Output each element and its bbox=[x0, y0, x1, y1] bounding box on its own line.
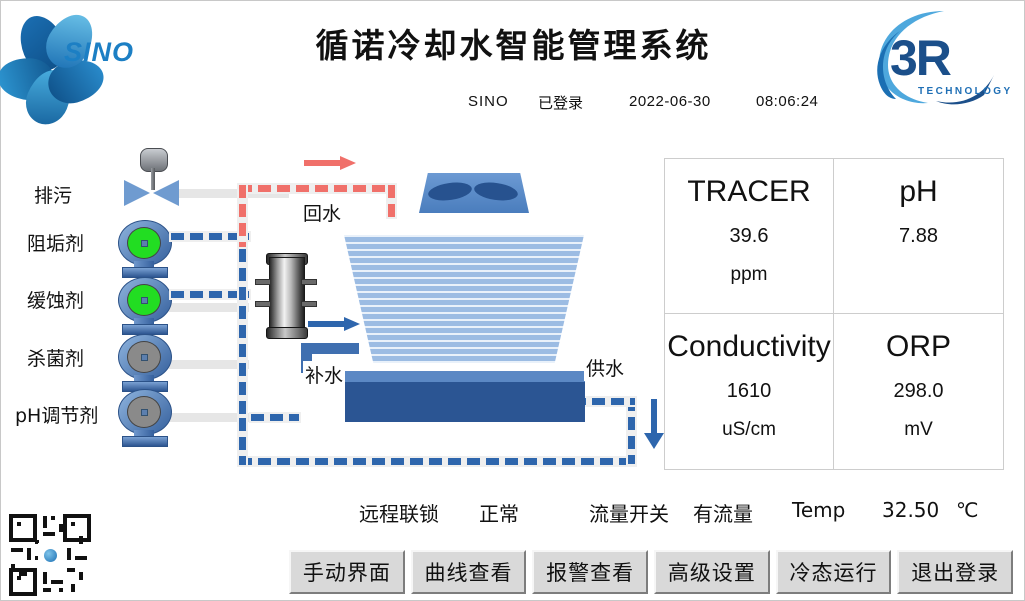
makeup-arrow-head-icon bbox=[344, 317, 360, 331]
cooling-tower-fan-housing bbox=[419, 173, 529, 213]
measurement-cell-tracer[interactable]: TRACER 39.6 ppm bbox=[665, 159, 834, 314]
label-supply-water: 供水 bbox=[584, 354, 626, 381]
valve-left-cone-icon bbox=[124, 180, 150, 206]
date-display: 2022-06-30 bbox=[629, 93, 711, 110]
measurement-unit: uS/cm bbox=[722, 419, 776, 441]
return-pipe-top bbox=[237, 183, 397, 194]
measurement-name: ORP bbox=[886, 328, 951, 366]
logout-button[interactable]: 退出登录 bbox=[897, 550, 1013, 594]
measurement-cell-conductivity[interactable]: Conductivity 1610 uS/cm bbox=[665, 314, 834, 469]
qr-finder-icon bbox=[63, 514, 91, 542]
pump-biocide[interactable] bbox=[116, 334, 172, 390]
cooling-tower-body bbox=[339, 213, 589, 388]
measurement-value: 39.6 bbox=[730, 225, 769, 248]
manual-screen-button[interactable]: 手动界面 bbox=[289, 550, 405, 594]
measurement-cell-ph[interactable]: pH 7.88 bbox=[834, 159, 1003, 314]
3r-subtitle: TECHNOLOGY bbox=[918, 86, 1013, 97]
interlock-label: 远程联锁 bbox=[359, 498, 439, 527]
button-bar: 手动界面 曲线查看 报警查看 高级设置 冷态运行 退出登录 bbox=[289, 550, 1013, 594]
measurement-value: 7.88 bbox=[899, 225, 938, 248]
advanced-settings-button[interactable]: 高级设置 bbox=[654, 550, 770, 594]
qr-code[interactable] bbox=[9, 514, 91, 596]
3r-technology-logo: 3R TECHNOLOGY bbox=[866, 3, 1016, 113]
supply-pipe-left bbox=[237, 247, 248, 427]
login-status: 已登录 bbox=[538, 92, 583, 113]
user-name: SINO bbox=[468, 93, 509, 110]
tower-fill-media-icon bbox=[339, 235, 589, 363]
measurement-unit: ppm bbox=[731, 264, 768, 286]
supply-pipe-branch bbox=[249, 412, 301, 423]
chamber-nozzle-icon bbox=[255, 301, 271, 307]
measurement-cell-orp[interactable]: ORP 298.0 mV bbox=[834, 314, 1003, 469]
temp-unit: ℃ bbox=[956, 498, 978, 522]
chamber-shell-icon bbox=[269, 257, 305, 333]
pump-base-icon bbox=[122, 436, 168, 447]
label-biocide: 杀菌剂 bbox=[27, 344, 84, 371]
cold-start-button[interactable]: 冷态运行 bbox=[776, 550, 892, 594]
makeup-arrow-shaft-icon bbox=[308, 321, 346, 327]
measurement-name: TRACER bbox=[687, 173, 810, 211]
chamber-bottom-cap-icon bbox=[266, 327, 308, 339]
supply-pipe-bottom bbox=[237, 456, 637, 467]
pump-corrosion-inhibitor[interactable] bbox=[116, 277, 172, 333]
interlock-value: 正常 bbox=[479, 498, 519, 527]
qr-finder-icon bbox=[9, 514, 37, 542]
blowdown-valve[interactable] bbox=[120, 148, 184, 208]
3r-wordmark: 3R bbox=[890, 29, 950, 87]
measurement-value: 1610 bbox=[727, 380, 772, 403]
temp-label: Temp bbox=[792, 498, 845, 522]
supply-arrow-shaft-icon bbox=[651, 399, 657, 437]
chamber-nozzle-icon bbox=[301, 301, 317, 307]
pump-center-dot-icon bbox=[141, 297, 148, 304]
label-makeup-water: 补水 bbox=[303, 361, 345, 388]
return-arrow-shaft-icon bbox=[304, 160, 342, 166]
tower-basin bbox=[345, 382, 585, 422]
label-corrosion-inhibitor: 缓蚀剂 bbox=[27, 286, 84, 313]
status-bar: 远程联锁 正常 流量开关 有流量 Temp 32.50 ℃ bbox=[1, 498, 1025, 528]
measurement-unit: mV bbox=[904, 419, 933, 441]
label-return-water: 回水 bbox=[301, 199, 343, 226]
sensor-chamber[interactable] bbox=[263, 249, 309, 339]
chamber-nozzle-icon bbox=[255, 279, 271, 285]
fan-blade-icon bbox=[473, 180, 519, 203]
return-pipe-left bbox=[237, 183, 248, 253]
return-arrow-head-icon bbox=[340, 156, 356, 170]
measurement-name: Conductivity bbox=[667, 328, 830, 366]
qr-center-logo-icon bbox=[38, 543, 62, 567]
chamber-nozzle-icon bbox=[301, 279, 317, 285]
pump-antiscalant[interactable] bbox=[116, 220, 172, 276]
trend-view-button[interactable]: 曲线查看 bbox=[411, 550, 527, 594]
valve-right-cone-icon bbox=[153, 180, 179, 206]
time-display: 08:06:24 bbox=[756, 93, 818, 110]
measurement-value: 298.0 bbox=[893, 380, 943, 403]
flow-switch-label: 流量开关 bbox=[589, 498, 669, 527]
pump-center-dot-icon bbox=[141, 240, 148, 247]
pump-ph-adjuster[interactable] bbox=[116, 389, 172, 445]
measurement-name: pH bbox=[899, 173, 937, 211]
label-blowdown: 排污 bbox=[34, 181, 72, 208]
pump-center-dot-icon bbox=[141, 354, 148, 361]
label-antiscalant: 阻垢剂 bbox=[27, 229, 84, 256]
temp-value: 32.50 bbox=[882, 498, 939, 522]
label-ph-adjuster: pH调节剂 bbox=[15, 401, 98, 428]
hmi-screen: SINO 循诺冷却水智能管理系统 SINO 已登录 2022-06-30 08:… bbox=[0, 0, 1025, 601]
flow-switch-value: 有流量 bbox=[693, 498, 753, 527]
pump-center-dot-icon bbox=[141, 409, 148, 416]
fan-blade-icon bbox=[427, 180, 473, 203]
measurement-panel: TRACER 39.6 ppm pH 7.88 Conductivity 161… bbox=[664, 158, 1004, 470]
supply-pipe-left-low bbox=[237, 416, 248, 467]
supply-arrow-head-icon bbox=[644, 433, 664, 449]
alarm-view-button[interactable]: 报警查看 bbox=[532, 550, 648, 594]
